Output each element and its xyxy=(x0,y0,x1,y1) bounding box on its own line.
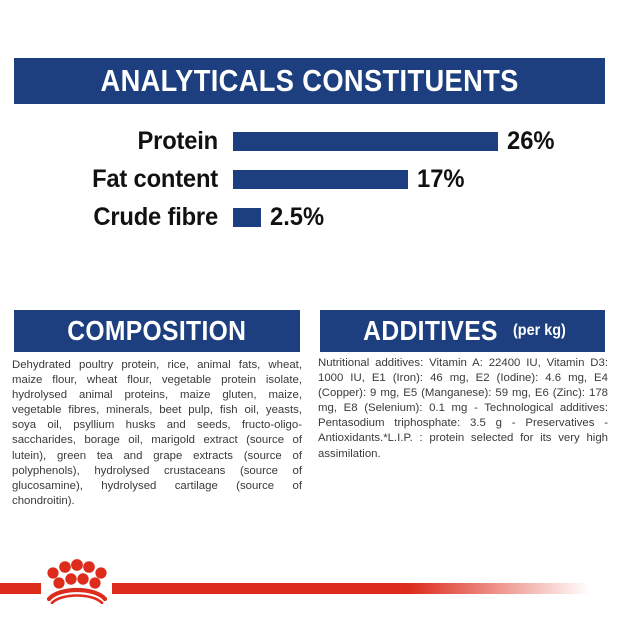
royal-canin-crown-icon xyxy=(45,559,109,604)
additives-header: ADDITIVES (per kg) xyxy=(320,310,605,352)
footer-red-bar-left xyxy=(0,583,41,594)
bar-fill-protein xyxy=(233,132,498,151)
bar-fill-crude-fibre xyxy=(233,208,261,227)
footer-red-bar-right xyxy=(112,583,590,594)
composition-header: COMPOSITION xyxy=(14,310,300,352)
nutrition-panel: ANALYTICALS CONSTITUENTS Protein 26% Fat… xyxy=(0,0,620,620)
bar-track-fat-content: 17% xyxy=(233,165,467,194)
additives-body-text: Nutritional additives: Vitamin A: 22400 … xyxy=(318,356,608,462)
analyticals-bar-chart: Protein 26% Fat content 17% Crude fibre … xyxy=(0,122,620,236)
bar-label-crude-fibre: Crude fibre xyxy=(11,203,218,232)
bar-label-protein: Protein xyxy=(11,127,218,156)
composition-body-text: Dehydrated poultry protein, rice, animal… xyxy=(12,358,302,509)
bar-value-fat-content: 17% xyxy=(417,165,465,194)
bar-track-protein: 26% xyxy=(233,127,557,156)
bar-value-crude-fibre: 2.5% xyxy=(270,203,324,232)
analyticals-heading-text: ANALYTICALS CONSTITUENTS xyxy=(100,63,518,99)
bar-fill-fat-content xyxy=(233,170,408,189)
footer-brand-band xyxy=(0,545,620,620)
bar-label-fat-content: Fat content xyxy=(11,165,218,194)
additives-subheading-text: (per kg) xyxy=(513,322,566,340)
additives-heading-text: ADDITIVES xyxy=(363,315,498,347)
bar-value-protein: 26% xyxy=(507,127,555,156)
chart-row-protein: Protein 26% xyxy=(0,122,620,160)
analyticals-constituents-header: ANALYTICALS CONSTITUENTS xyxy=(14,58,605,104)
chart-row-fat-content: Fat content 17% xyxy=(0,160,620,198)
chart-row-crude-fibre: Crude fibre 2.5% xyxy=(0,198,620,236)
composition-heading-text: COMPOSITION xyxy=(67,315,246,347)
bar-track-crude-fibre: 2.5% xyxy=(233,203,327,232)
